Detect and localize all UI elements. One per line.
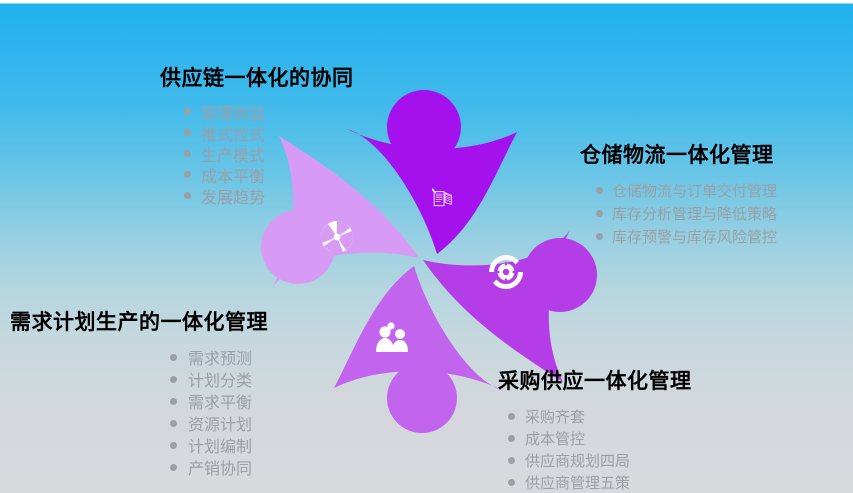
list-item-label: 计划编制 [188,433,252,457]
bullet-icon [508,435,515,442]
pie-chart-icon [321,221,353,253]
bullet-icon [184,108,191,115]
list-item-label: 库存预警与库存风险管控 [612,226,777,247]
bullet-icon [170,464,177,471]
bullet-icon [508,457,515,464]
list-item-label: 需求平衡 [188,389,252,413]
list-item[interactable]: 需求平衡 [170,390,268,412]
list-item[interactable]: 采购齐套 [508,405,692,427]
list-item[interactable]: 成本管控 [508,427,692,449]
list-item[interactable]: 供应商管理五策 [508,471,692,493]
list-item[interactable]: 供应商规划四局 [508,449,692,471]
block-title-demand-plan: 需求计划生产的一体化管理 [10,306,268,336]
block-list-procurement: 采购齐套 成本管控 供应商规划四局 供应商管理五策 [498,405,692,493]
list-item-label: 发展趋势 [201,184,265,208]
bullet-icon [596,210,603,217]
bullet-icon [596,187,603,194]
list-item-label: 库存分析管理与降低策略 [612,203,777,224]
list-item[interactable]: 管理效益 [184,101,354,122]
petal-circle-procurement [523,238,597,312]
block-supply-chain: 供应链一体化的协同 管理效益 推式拉式 生产模式 成本平衡 发展趋势 [160,62,354,206]
block-demand-plan: 需求计划生产的一体化管理 需求预测 计划分类 需求平衡 资源计划 计划编制 [10,306,268,478]
block-warehouse: 仓储物流一体化管理 仓储物流与订单交付管理 库存分析管理与降低策略 库存预警与库… [580,139,777,248]
list-item[interactable]: 库存预警与库存风险管控 [596,225,777,247]
list-item[interactable]: 生产模式 [184,143,354,164]
bullet-icon [184,129,191,136]
list-item[interactable]: 库存分析管理与降低策略 [596,202,777,224]
bullet-icon [184,192,191,199]
list-item-label: 资源计划 [188,411,252,435]
list-item[interactable]: 发展趋势 [184,185,354,206]
petal-circle-demand-plan [387,363,457,433]
slide-canvas: 供应链一体化的协同 管理效益 推式拉式 生产模式 成本平衡 发展趋势 [0,0,853,493]
bullet-icon [170,398,177,405]
block-list-supply-chain: 管理效益 推式拉式 生产模式 成本平衡 发展趋势 [160,101,354,206]
list-item-label: 供应商规划四局 [525,450,630,471]
petal-circle-supply-chain [261,210,335,284]
list-item[interactable]: 需求预测 [170,346,268,368]
list-item-label: 产销协同 [188,455,252,479]
list-item[interactable]: 推式拉式 [184,122,354,143]
list-item[interactable]: 仓储物流与订单交付管理 [596,179,777,201]
bullet-icon [508,479,515,486]
list-item[interactable]: 资源计划 [170,412,268,434]
bullet-icon [596,233,603,240]
list-item[interactable]: 计划分类 [170,368,268,390]
list-item[interactable]: 产销协同 [170,456,268,478]
block-list-demand-plan: 需求预测 计划分类 需求平衡 资源计划 计划编制 产销协同 [10,346,268,478]
list-item[interactable]: 成本平衡 [184,164,354,185]
block-list-warehouse: 仓储物流与订单交付管理 库存分析管理与降低策略 库存预警与库存风险管控 [580,179,777,247]
block-title-warehouse: 仓储物流一体化管理 [580,139,777,169]
block-title-procurement: 采购供应一体化管理 [498,365,692,395]
bullet-icon [184,150,191,157]
list-item[interactable]: 计划编制 [170,434,268,456]
list-item-label: 供应商管理五策 [525,472,630,493]
list-item-label: 需求预测 [188,345,252,369]
list-item-label: 采购齐套 [525,406,585,427]
list-item-label: 仓储物流与订单交付管理 [612,180,777,201]
bullet-icon [170,442,177,449]
list-item-label: 计划分类 [188,367,252,391]
list-item-label: 成本管控 [525,428,585,449]
bullet-icon [184,171,191,178]
block-procurement: 采购供应一体化管理 采购齐套 成本管控 供应商规划四局 供应商管理五策 [498,365,692,493]
bullet-icon [170,376,177,383]
bullet-icon [508,413,515,420]
bullet-icon [170,354,177,361]
petal-circle-warehouse [387,90,461,164]
bullet-icon [170,420,177,427]
block-title-supply-chain: 供应链一体化的协同 [160,62,354,92]
